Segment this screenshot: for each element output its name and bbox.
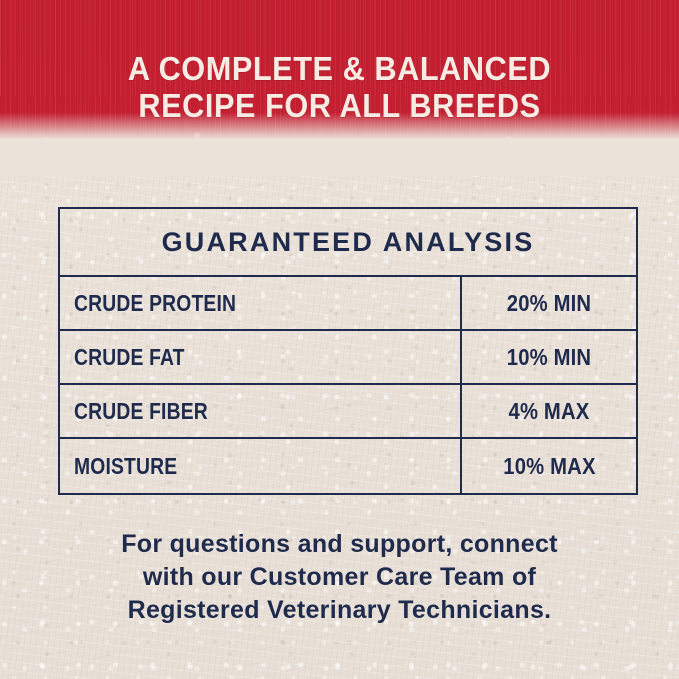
customer-care-note-line-1: For questions and support, connect [40, 528, 639, 561]
guaranteed-analysis-title-row: GUARANTEED ANALYSIS [60, 209, 636, 277]
banner-headline: A COMPLETE & BALANCED RECIPE FOR ALL BRE… [24, 50, 655, 124]
nutrient-label-text: MOISTURE [74, 453, 177, 480]
nutrient-label-text: CRUDE FIBER [74, 398, 208, 425]
nutrient-value-text: 10% MAX [503, 453, 595, 480]
nutrient-label-cell: CRUDE FIBER [60, 385, 462, 437]
nutrient-value-cell: 20% MIN [462, 277, 636, 329]
nutrient-value-cell: 10% MAX [462, 439, 636, 493]
product-label-panel: A COMPLETE & BALANCED RECIPE FOR ALL BRE… [0, 0, 679, 679]
guaranteed-analysis-table: GUARANTEED ANALYSIS CRUDE PROTEIN 20% MI… [58, 207, 638, 495]
nutrient-label-cell: CRUDE PROTEIN [60, 277, 462, 329]
nutrient-value-text: 4% MAX [509, 398, 590, 425]
nutrient-label-cell: CRUDE FAT [60, 331, 462, 383]
customer-care-note-line-2: with our Customer Care Team of [40, 561, 639, 594]
nutrient-value-cell: 4% MAX [462, 385, 636, 437]
table-row: CRUDE PROTEIN 20% MIN [60, 277, 636, 331]
nutrient-value-cell: 10% MIN [462, 331, 636, 383]
table-row: MOISTURE 10% MAX [60, 439, 636, 493]
guaranteed-analysis-title: GUARANTEED ANALYSIS [162, 227, 535, 258]
banner-headline-line-2: RECIPE FOR ALL BREEDS [24, 87, 655, 124]
nutrient-label-cell: MOISTURE [60, 439, 462, 493]
table-row: CRUDE FAT 10% MIN [60, 331, 636, 385]
table-row: CRUDE FIBER 4% MAX [60, 385, 636, 439]
customer-care-note: For questions and support, connect with … [40, 528, 639, 627]
nutrient-value-text: 10% MIN [507, 344, 591, 371]
torn-edge-speckle [0, 120, 679, 172]
nutrient-value-text: 20% MIN [507, 290, 591, 317]
nutrient-label-text: CRUDE FAT [74, 344, 185, 371]
customer-care-note-line-3: Registered Veterinary Technicians. [40, 594, 639, 627]
banner-headline-line-1: A COMPLETE & BALANCED [24, 50, 655, 87]
nutrient-label-text: CRUDE PROTEIN [74, 290, 236, 317]
